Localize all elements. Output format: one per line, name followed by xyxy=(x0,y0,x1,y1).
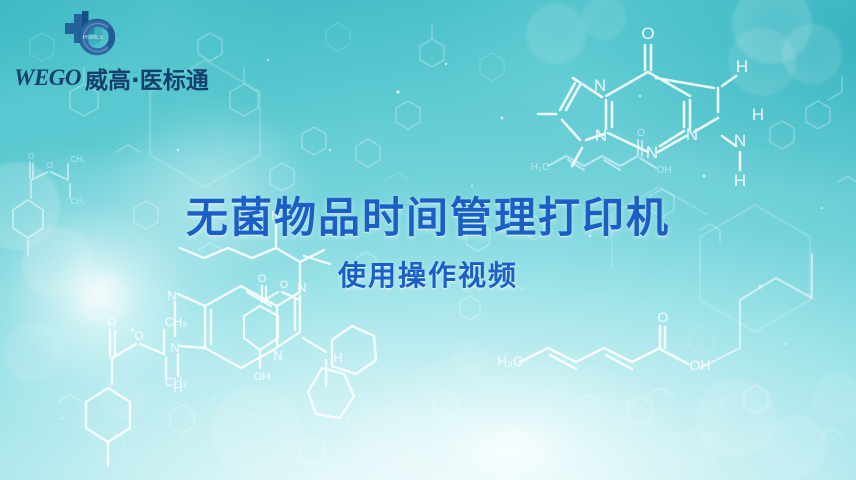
video-title-card: O N H N N N N H H H₃C xyxy=(0,0,856,480)
brand-logo: HSMLS WEGO 威高·医标通 xyxy=(14,8,204,94)
wego-hsmls-b-mark-icon: HSMLS xyxy=(62,10,122,62)
brand-latin-name: WEGO xyxy=(14,65,81,91)
brand-chinese-name: 威高·医标通 xyxy=(85,61,209,95)
brand-wordmark: WEGO 威高·医标通 xyxy=(14,64,200,92)
mark-inner-text: HSMLS xyxy=(83,35,104,41)
title-block: 无菌物品时间管理打印机 使用操作视频 xyxy=(0,196,856,294)
page-subtitle: 使用操作视频 xyxy=(0,254,856,294)
page-title: 无菌物品时间管理打印机 xyxy=(0,196,856,240)
